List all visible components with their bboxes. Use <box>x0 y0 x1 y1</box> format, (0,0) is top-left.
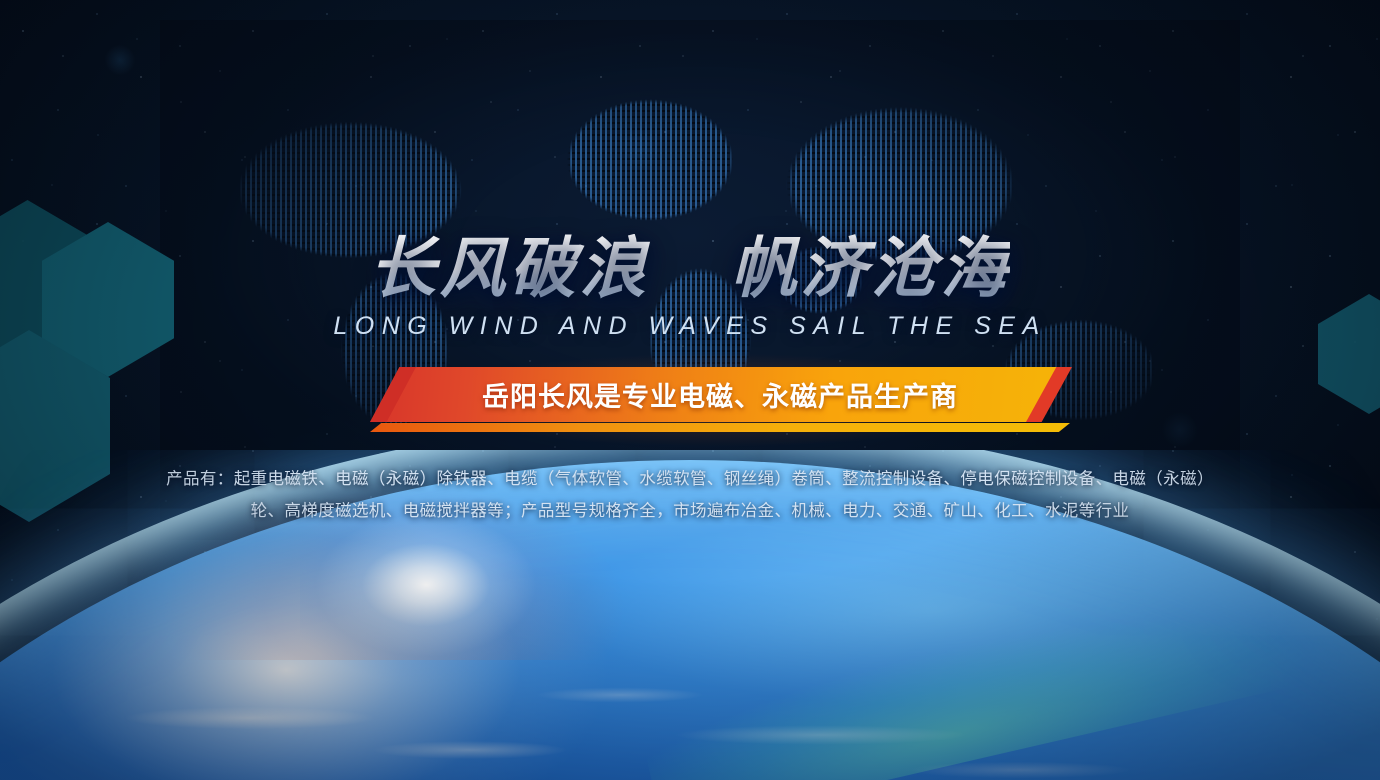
ribbon-accent-strip <box>370 423 1070 432</box>
hero-banner: 长风破浪 帆济沧海 LONG WIND AND WAVES SAIL THE S… <box>0 0 1380 780</box>
ribbon-label: 岳阳长风是专业电磁、永磁产品生产商 <box>370 367 1070 422</box>
tagline-ribbon: 岳阳长风是专业电磁、永磁产品生产商 <box>370 367 1070 422</box>
description-line-1: 产品有：起重电磁铁、电磁（永磁）除铁器、电缆（气体软管、水缆软管、钢丝绳）卷筒、… <box>0 463 1380 495</box>
headline-chinese-wrap: 长风破浪 帆济沧海 <box>0 234 1380 303</box>
headline-chinese: 长风破浪 帆济沧海 <box>370 234 1011 303</box>
product-description: 产品有：起重电磁铁、电磁（永磁）除铁器、电缆（气体软管、水缆软管、钢丝绳）卷筒、… <box>0 463 1380 527</box>
headline-english: LONG WIND AND WAVES SAIL THE SEA <box>333 312 1046 340</box>
headline-english-wrap: LONG WIND AND WAVES SAIL THE SEA <box>0 312 1380 341</box>
description-line-2: 轮、高梯度磁选机、电磁搅拌器等；产品型号规格齐全，市场遍布冶金、机械、电力、交通… <box>0 495 1380 527</box>
